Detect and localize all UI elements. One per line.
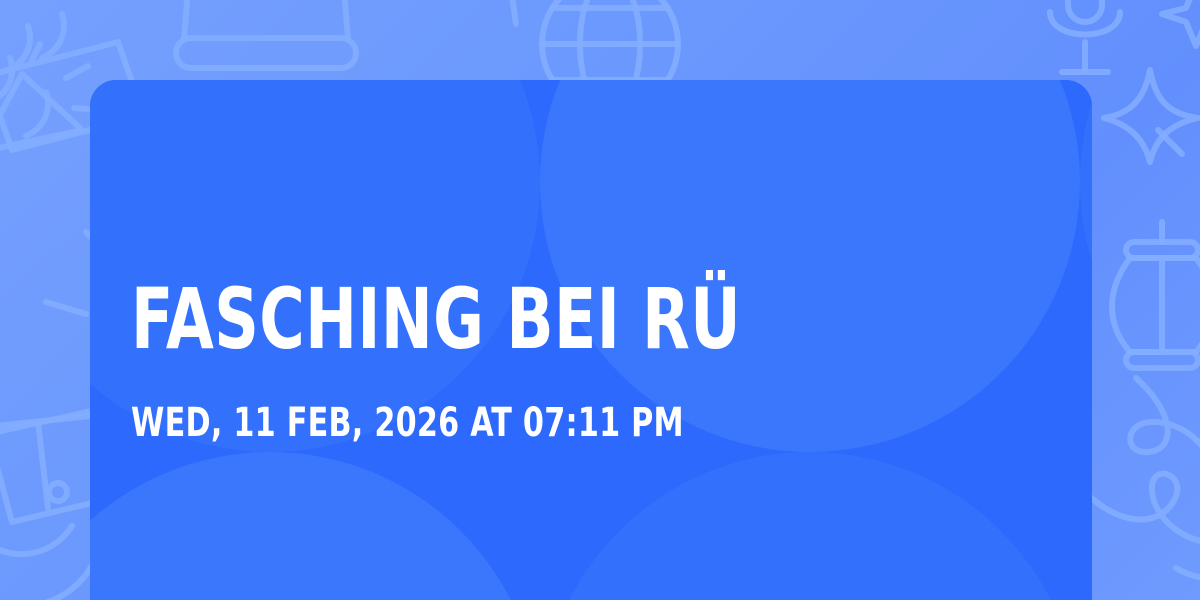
event-card-content: Fasching bei Rü Wed, 11 Feb, 2026 at 07:… bbox=[131, 80, 1052, 600]
confetti-streak-icon bbox=[1148, 120, 1200, 200]
event-card: Fasching bei Rü Wed, 11 Feb, 2026 at 07:… bbox=[90, 80, 1092, 600]
confetti-streak-icon bbox=[494, 0, 554, 50]
orb-shape bbox=[1080, 452, 1092, 600]
event-title: Fasching bei Rü bbox=[131, 277, 741, 361]
event-datetime: Wed, 11 Feb, 2026 at 07:11 PM bbox=[131, 361, 684, 443]
star-icon bbox=[1156, 0, 1200, 56]
sparkle-icon bbox=[1098, 60, 1200, 170]
orb-shape bbox=[1080, 80, 1092, 452]
lantern-icon bbox=[1100, 212, 1200, 382]
event-banner: Fasching bei Rü Wed, 11 Feb, 2026 at 07:… bbox=[0, 0, 1200, 600]
